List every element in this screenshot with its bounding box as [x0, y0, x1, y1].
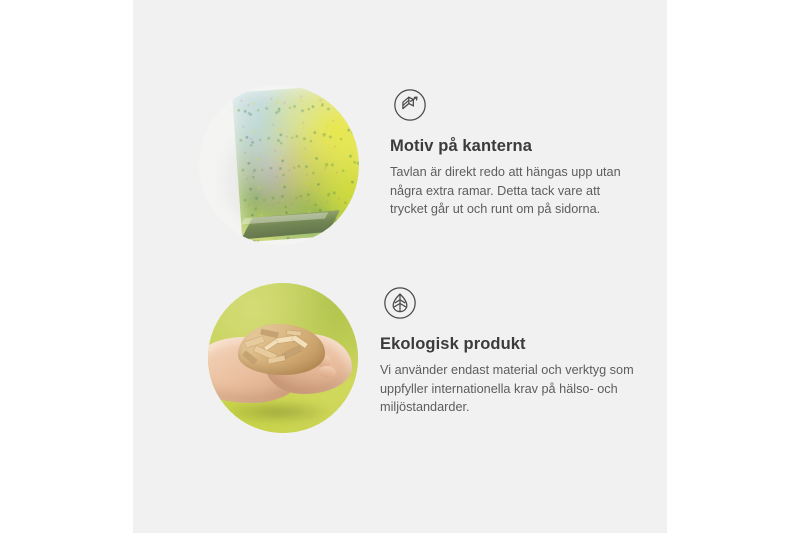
feature-title: Motiv på kanterna: [390, 137, 640, 156]
hands-wood-chips-photo: [208, 283, 358, 433]
feature-body: Vi använder endast material och verktyg …: [380, 361, 652, 417]
feature-text-eco: Ekologisk produkt Vi använder endast mat…: [380, 283, 652, 417]
screenshot-root: Motiv på kanterna Tavlan är direkt redo …: [0, 0, 800, 533]
feature-text-edges: Motiv på kanterna Tavlan är direkt redo …: [390, 85, 640, 219]
feature-title: Ekologisk produkt: [380, 335, 652, 354]
content-panel: Motiv på kanterna Tavlan är direkt redo …: [133, 0, 667, 533]
ground-shadow: [223, 400, 334, 424]
canvas-object: [232, 85, 359, 243]
feature-body: Tavlan är direkt redo att hängas upp uta…: [390, 163, 640, 219]
feature-block-eco: Ekologisk produkt Vi använder endast mat…: [208, 283, 652, 433]
canvas-edge-print-icon: [390, 85, 640, 125]
canvas-corner-photo: [199, 85, 359, 245]
leaf-icon: [380, 283, 652, 323]
feature-block-edges: Motiv på kanterna Tavlan är direkt redo …: [199, 85, 640, 245]
